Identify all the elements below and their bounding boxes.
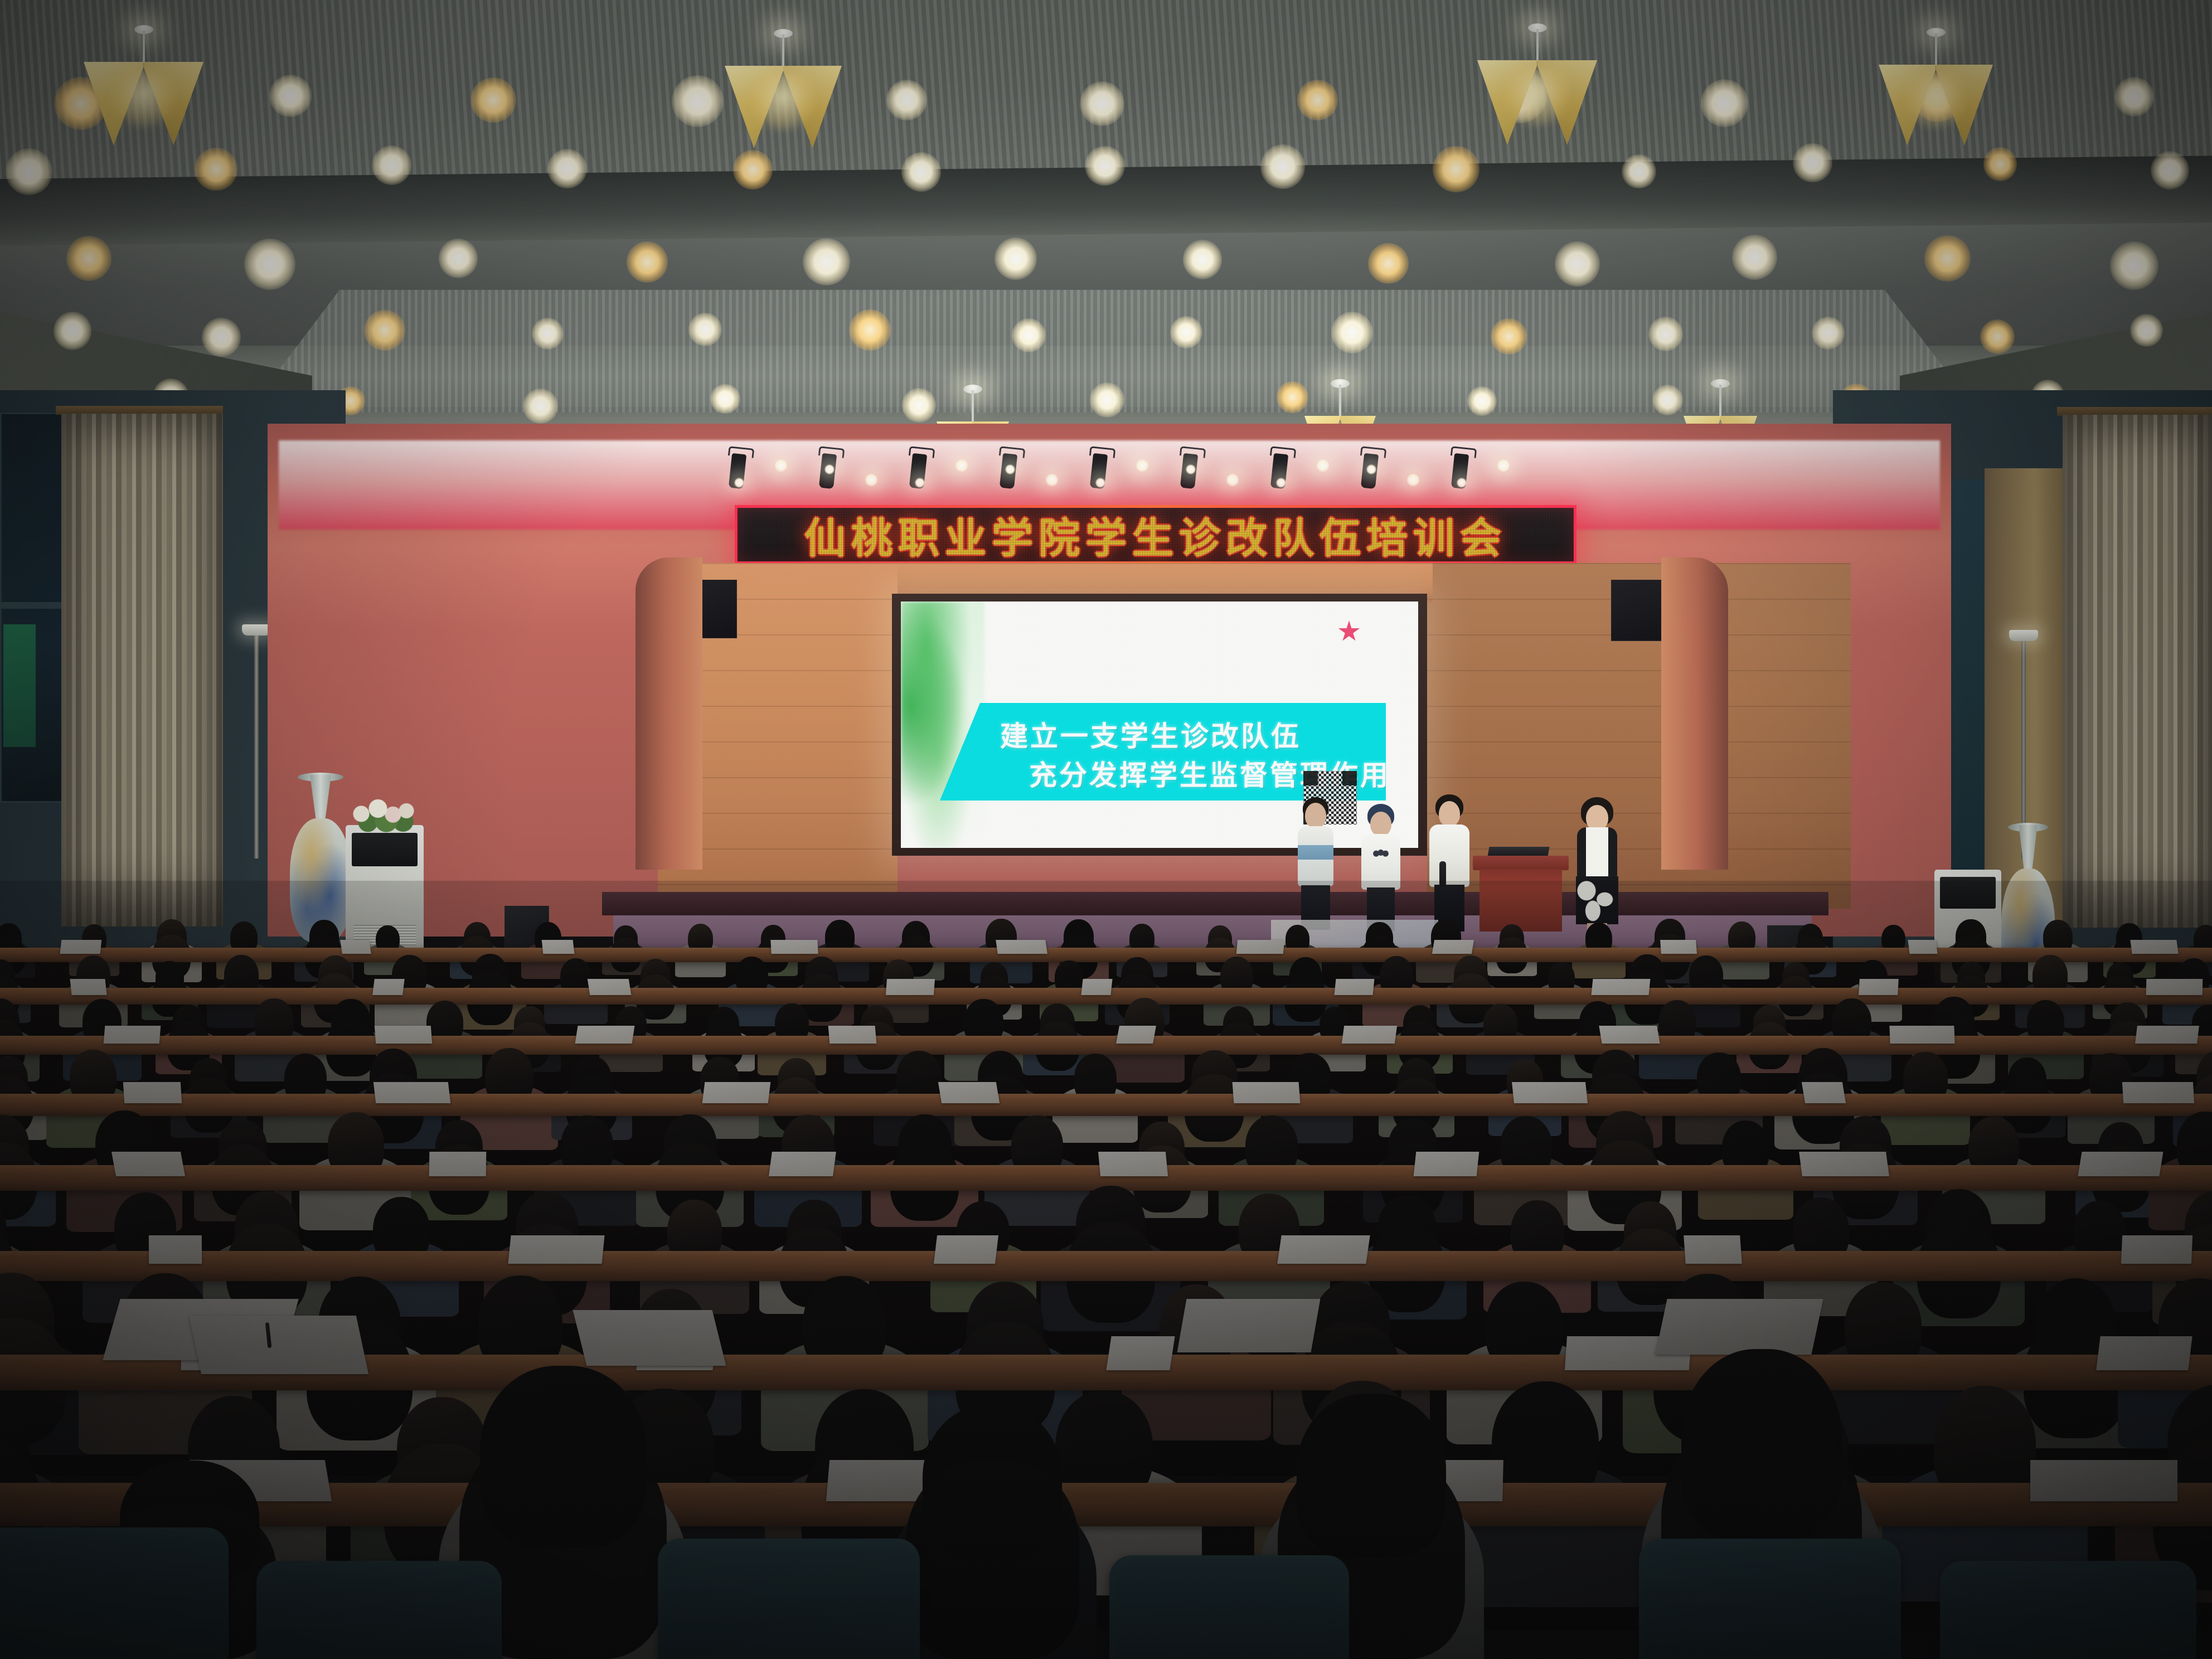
vase-neck: [2014, 825, 2043, 875]
paper-sheet: [1599, 1026, 1660, 1044]
paper-sheet: [2121, 1235, 2192, 1264]
lamp-glow: [1503, 68, 1570, 127]
projection-screen-frame: 建立一支学生诊改队伍 充分发挥学生监督管理作用: [892, 594, 1427, 856]
paper-sheet: [1106, 1336, 1175, 1370]
audience-desk-row: [0, 1094, 2212, 1116]
vase-neck: [304, 775, 337, 825]
paper-sheet: [123, 1082, 182, 1103]
paper-sheet: [1277, 1235, 1370, 1264]
truss-downlight: [1005, 464, 1016, 475]
truss-downlight: [1366, 464, 1377, 475]
paper-sheet: [2135, 1026, 2199, 1044]
pendant-lamp: [1477, 29, 1597, 114]
paper-sheet: [111, 1152, 185, 1176]
paper-sheet: [60, 940, 101, 954]
sconce-cup: [2009, 630, 2038, 641]
truss-downlight: [734, 477, 745, 488]
star-logo-icon: [1338, 620, 1360, 643]
paper-sheet: [1799, 1152, 1889, 1176]
paper-sheet: [2078, 1152, 2164, 1176]
truss-downlight: [1095, 477, 1106, 488]
audience-desk-row: [0, 1036, 2212, 1055]
paper-sheet: [1081, 979, 1112, 995]
decorative-vase-left: [290, 775, 351, 942]
pendant-lamp: [725, 35, 842, 117]
paper-sheet: [2130, 940, 2179, 954]
paper-sheet: [702, 1082, 771, 1103]
wooden-podium: [1476, 856, 1565, 931]
paper-sheet: [189, 1316, 368, 1374]
pendant-lamp: [1879, 33, 1993, 114]
paper-sheet: [1859, 979, 1899, 995]
paper-sheet: [771, 940, 819, 954]
truss-downlight: [1225, 473, 1240, 487]
paper-sheet: [1512, 1082, 1588, 1103]
truss-downlight: [1185, 464, 1196, 475]
auditorium-chair[interactable]: [658, 1539, 920, 1659]
lamp-rod: [972, 390, 974, 423]
truss-downlight: [1275, 477, 1287, 488]
lamp-rod: [1719, 385, 1721, 417]
paper-sheet: [573, 1310, 726, 1366]
lamp-rod: [1935, 33, 1937, 66]
podium-body: [1479, 869, 1562, 932]
lamp-rod: [143, 31, 145, 63]
paper-sheet: [1908, 940, 1938, 954]
paper-sheet: [373, 979, 405, 995]
teacher-host: [1566, 797, 1628, 937]
auditorium-chair[interactable]: [1109, 1555, 1349, 1659]
curtain-left: [61, 414, 223, 926]
lamp-glow: [750, 74, 816, 132]
auditorium-chair[interactable]: [256, 1561, 502, 1659]
paper-sheet: [1889, 1026, 1954, 1044]
paper-sheet: [429, 1152, 486, 1176]
paper-sheet: [2146, 979, 2202, 995]
microphone: [1439, 861, 1446, 887]
lamp-rod: [1536, 29, 1539, 61]
pendant-lamp: [84, 31, 203, 114]
truss-downlight: [1316, 458, 1330, 473]
proscenium-curve-left: [636, 557, 702, 870]
sconce-pole: [254, 624, 259, 858]
paper-sheet: [1232, 1082, 1300, 1103]
paper-sheet: [828, 1026, 877, 1044]
truss-downlight: [1135, 458, 1149, 473]
paper-sheet: [588, 979, 631, 995]
auditorium-chair[interactable]: [1940, 1561, 2196, 1659]
paper-sheet: [769, 1152, 836, 1176]
truss-downlight: [1406, 473, 1420, 487]
paper-sheet: [2097, 1336, 2192, 1370]
paper-sheet: [542, 940, 575, 954]
flower-arrangement: [343, 797, 426, 835]
slide-logo-row: [1338, 620, 1375, 643]
person-hair: [905, 1461, 1079, 1659]
paper-sheet: [1591, 979, 1650, 995]
truss-downlight: [954, 458, 969, 473]
paper-sheet: [938, 1082, 1000, 1103]
auditorium-chair[interactable]: [1639, 1539, 1901, 1659]
stage-front-edge: [602, 892, 1828, 915]
truss-downlight: [1456, 477, 1467, 488]
paper-sheet: [1684, 1235, 1742, 1264]
truss-downlight: [824, 464, 835, 475]
paper-sheet: [1414, 1152, 1479, 1176]
lamp-rod: [1339, 385, 1341, 417]
window-green-reflection: [3, 624, 36, 747]
led-banner-text: 仙桃职业学院学生诊改队伍培训会: [804, 505, 1507, 564]
ac-grille: [1940, 877, 1996, 909]
led-banner: 仙桃职业学院学生诊改队伍培训会: [735, 505, 1576, 564]
auditorium-chair[interactable]: [0, 1527, 229, 1659]
stage-lighting-truss: [719, 446, 1544, 496]
paper-sheet: [575, 1026, 634, 1044]
paper-sheet: [934, 1235, 998, 1264]
paper-sheet: [1177, 1299, 1321, 1352]
lamp-rod: [782, 35, 784, 67]
paper-sheet: [1335, 979, 1374, 995]
paper-sheet: [2030, 1460, 2177, 1501]
paper-sheet: [104, 1026, 161, 1044]
paper-sheet: [1661, 940, 1697, 954]
paper-sheet: [1801, 1082, 1845, 1103]
truss-downlight: [1496, 458, 1511, 473]
truss-downlight: [864, 473, 879, 487]
audience-desk-row: [0, 1251, 2212, 1281]
truss-downlight: [1045, 473, 1059, 487]
auditorium-photo: 仙桃职业学院学生诊改队伍培训会 建立一支学生诊改队伍 充分发挥学生监督管理作用: [0, 0, 2212, 1659]
curtain-right: [2063, 415, 2212, 928]
paper-sheet: [373, 1082, 450, 1103]
patterned-skirt: [1576, 876, 1618, 924]
paper-sheet: [1236, 940, 1284, 954]
paper-sheet: [1342, 1026, 1398, 1044]
paper-sheet: [1655, 1299, 1823, 1355]
student-presenter-3: [1423, 794, 1476, 931]
paper-sheet: [340, 940, 371, 954]
student-presenter-2: [1356, 804, 1406, 929]
paper-sheet: [996, 940, 1047, 954]
ac-grille: [352, 833, 418, 866]
slide-title-line-1: 建立一支学生诊改队伍: [1000, 714, 1301, 754]
paper-sheet: [149, 1235, 202, 1264]
lamp-glow: [1904, 72, 1968, 129]
podium-top: [1473, 856, 1569, 870]
lamp-glow: [110, 70, 177, 128]
paper-sheet: [508, 1235, 604, 1264]
proscenium-curve-right: [1661, 557, 1728, 870]
paper-sheet: [375, 1026, 433, 1044]
sconce-cup: [242, 624, 271, 636]
truss-downlight: [914, 477, 925, 488]
paper-sheet: [2122, 1082, 2195, 1103]
paper-sheet: [1432, 940, 1474, 954]
paper-sheet: [886, 979, 935, 995]
paper-sheet: [1098, 1152, 1168, 1176]
paper-sheet: [70, 979, 107, 995]
paper-sheet: [1116, 1026, 1156, 1044]
student-presenter-1: [1291, 797, 1341, 928]
truss-downlight: [774, 458, 788, 473]
